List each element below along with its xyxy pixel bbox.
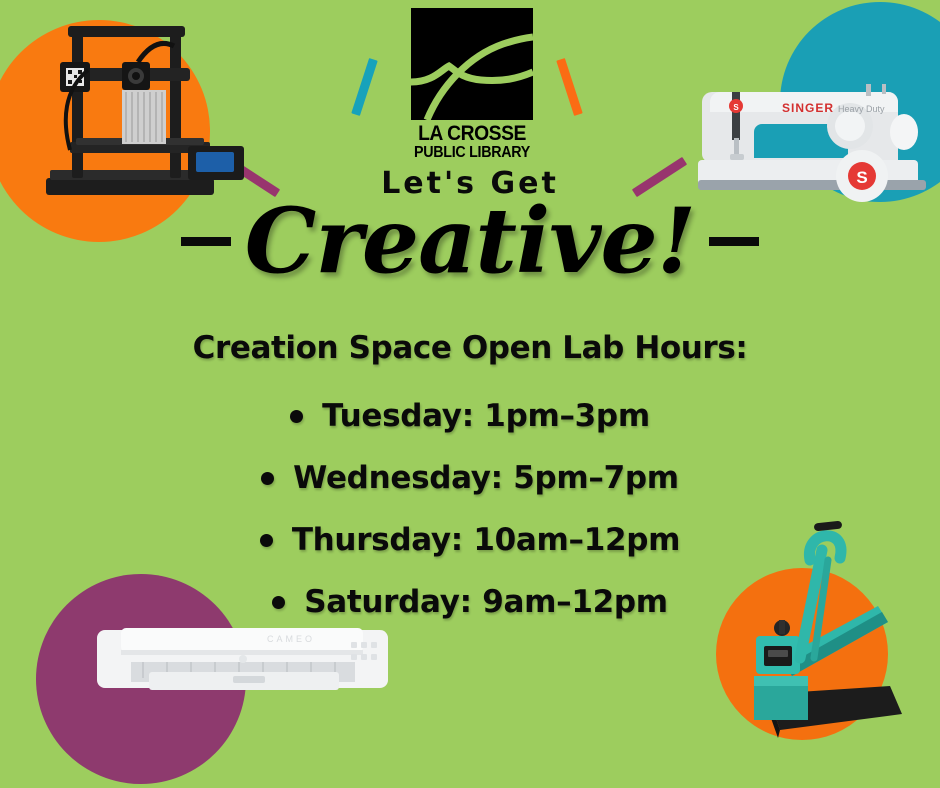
dash-right-icon [709,237,759,246]
hours-heading: Creation Space Open Lab Hours: [0,330,940,366]
headline-main-row: Creative! [0,196,940,286]
svg-text:Heavy Duty: Heavy Duty [838,104,885,114]
logo-text-line2: PUBLIC LIBRARY [413,145,531,161]
svg-text:CAMEO: CAMEO [267,634,315,644]
list-item: Saturday: 9am–12pm [0,571,940,633]
list-item: Thursday: 10am–12pm [0,509,940,571]
poster-canvas: S SINGER Heavy Duty S [0,0,940,788]
stroke-teal [351,58,377,116]
hours-item-label: Saturday: 9am–12pm [304,584,668,620]
logo-mark-icon [411,8,533,120]
hours-item-label: Thursday: 10am–12pm [292,522,680,558]
list-item: Wednesday: 5pm–7pm [0,447,940,509]
hours-item-label: Wednesday: 5pm–7pm [293,460,679,496]
svg-text:S: S [733,103,739,112]
list-item: Tuesday: 1pm–3pm [0,385,940,447]
bullet-icon [272,596,285,609]
library-logo: LA CROSSE PUBLIC LIBRARY [408,8,536,161]
bullet-icon [260,534,273,547]
headline-main: Creative! [245,196,695,286]
logo-text-line1: LA CROSSE [413,123,531,144]
bullet-icon [261,472,274,485]
hours-list: Tuesday: 1pm–3pm Wednesday: 5pm–7pm Thur… [0,385,940,633]
dash-left-icon [181,237,231,246]
svg-text:SINGER: SINGER [782,101,834,115]
hours-item-label: Tuesday: 1pm–3pm [322,398,650,434]
bullet-icon [290,410,303,423]
stroke-orange [556,58,582,116]
